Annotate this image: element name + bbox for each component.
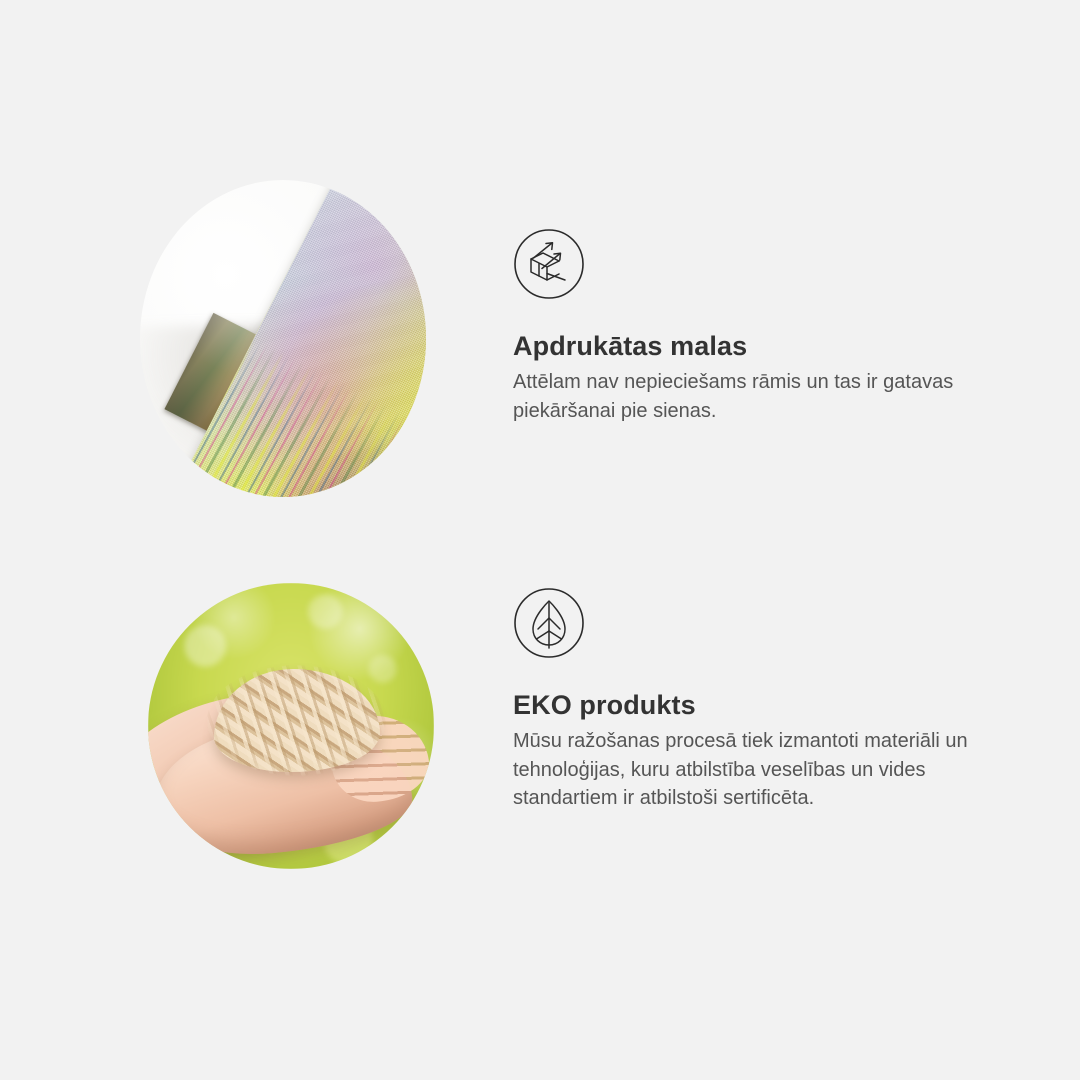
- feature-image-eko-product: [148, 583, 434, 869]
- feature-content-printed-edges: Apdrukātas malas Attēlam nav nepieciešam…: [513, 228, 1013, 425]
- feature-block-printed-edges: Apdrukātas malas Attēlam nav nepieciešam…: [0, 170, 1080, 510]
- feature-heading: EKO produkts: [513, 689, 1013, 721]
- promo-page: Apdrukātas malas Attēlam nav nepieciešam…: [0, 0, 1080, 1080]
- hands-wood-chips-photo: [148, 583, 434, 869]
- leaf-icon: [513, 587, 585, 659]
- feature-image-printed-edges: [140, 180, 426, 497]
- feature-content-eko-product: EKO produkts Mūsu ražošanas procesā tiek…: [513, 587, 1013, 813]
- feature-description: Attēlam nav nepieciešams rāmis un tas ir…: [513, 368, 993, 425]
- feature-description: Mūsu ražošanas procesā tiek izmantoti ma…: [513, 727, 993, 812]
- feature-heading: Apdrukātas malas: [513, 330, 1013, 362]
- feature-block-eko-product: EKO produkts Mūsu ražošanas procesā tiek…: [0, 575, 1080, 875]
- wood-chips-pile: [214, 669, 380, 772]
- canvas-corner-photo: [140, 180, 426, 497]
- printed-edges-icon: [513, 228, 585, 300]
